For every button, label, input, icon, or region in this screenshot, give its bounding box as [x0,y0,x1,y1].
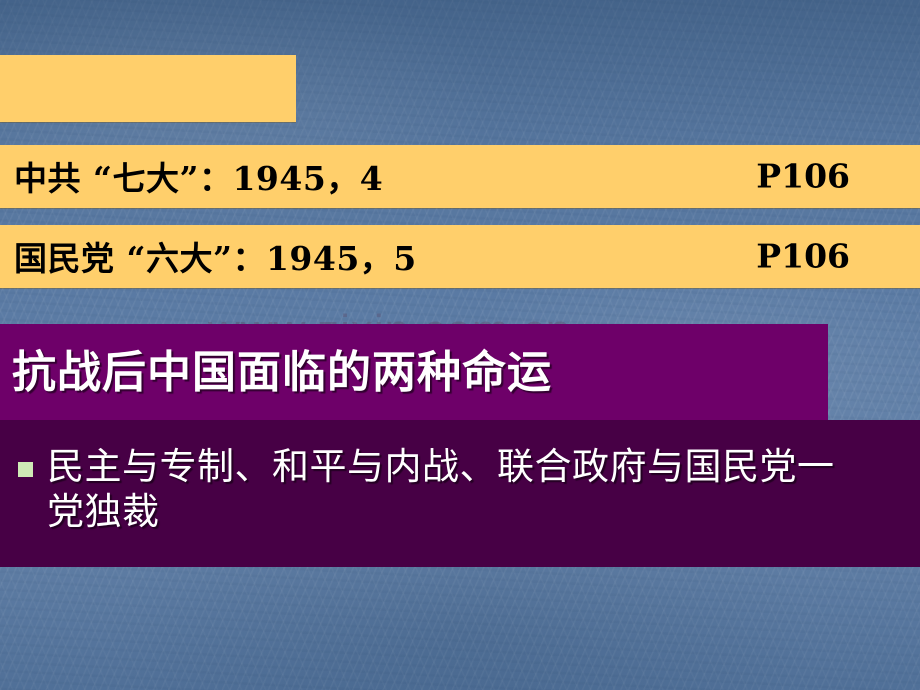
slide-canvas: www.zixin.com.cn 回顾： 详 中共 “七大”：1945，4 P1… [0,0,920,690]
list-item-label: 民主与专制、和平与内战、联合政府与国民党一党独裁 [47,444,847,534]
title-bar-background [0,55,296,122]
info-row-2-label: 国民党 “六大”：1945，5 [14,232,417,280]
info-row-2-page-reference: P106 [756,236,850,275]
square-bullet-icon [18,462,33,477]
bullet-list: 民主与专制、和平与内战、联合政府与国民党一党独裁 [18,444,898,534]
info-row-1: 中共 “七大”：1945，4 P106 [0,145,920,208]
info-row-1-page-reference: P106 [756,156,850,195]
info-row-1-label: 中共 “七大”：1945，4 [14,152,383,200]
info-row-2: 国民党 “六大”：1945，5 P106 [0,225,920,288]
list-item: 民主与专制、和平与内战、联合政府与国民党一党独裁 [18,444,898,534]
section-heading: 抗战后中国面临的两种命运 [12,336,552,400]
